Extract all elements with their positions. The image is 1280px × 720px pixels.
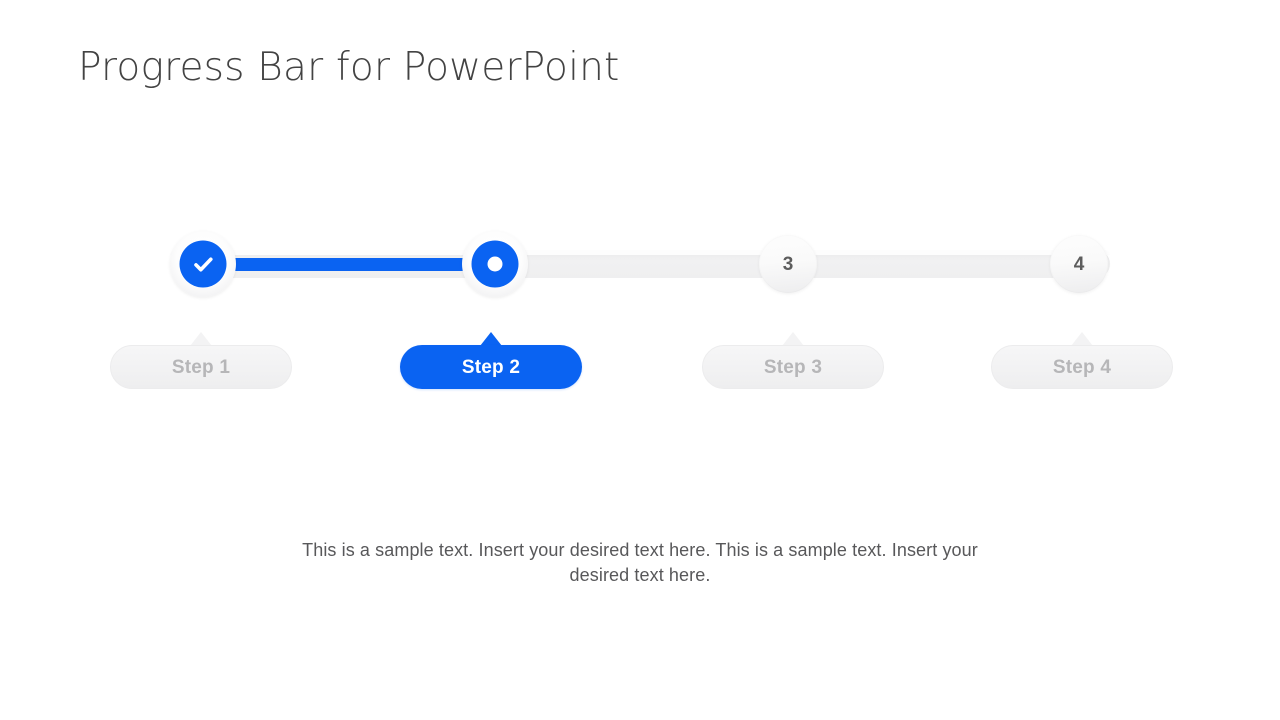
pointer-up-icon bbox=[480, 332, 502, 346]
body-paragraph: This is a sample text. Insert your desir… bbox=[300, 538, 980, 588]
progress-track-highlight bbox=[170, 250, 1110, 255]
step-label-3-text: Step 3 bbox=[764, 358, 822, 377]
step-marker-3-number: 3 bbox=[783, 255, 794, 274]
step-marker-4[interactable]: 4 bbox=[1050, 235, 1108, 293]
current-dot-icon bbox=[488, 257, 503, 272]
step-label-2-text: Step 2 bbox=[462, 358, 520, 377]
progress-fill bbox=[196, 258, 501, 271]
check-icon bbox=[190, 251, 216, 277]
step-label-4-text: Step 4 bbox=[1053, 358, 1111, 377]
pointer-up-icon bbox=[1071, 332, 1093, 346]
step-marker-4-number: 4 bbox=[1074, 255, 1085, 274]
step-label-4-pill[interactable]: Step 4 bbox=[991, 345, 1173, 389]
step-marker-2[interactable] bbox=[462, 231, 528, 297]
step-marker-1-core bbox=[180, 241, 227, 288]
pointer-up-icon bbox=[190, 332, 212, 346]
step-label-2-pill[interactable]: Step 2 bbox=[400, 345, 582, 389]
progress-bar-diagram: 3 4 Step 1 Step 2 Step 3 Step 4 bbox=[0, 0, 1280, 720]
step-label-1-text: Step 1 bbox=[172, 358, 230, 377]
step-label-3-pill[interactable]: Step 3 bbox=[702, 345, 884, 389]
step-marker-3[interactable]: 3 bbox=[759, 235, 817, 293]
step-marker-2-core bbox=[472, 241, 519, 288]
pointer-up-icon bbox=[782, 332, 804, 346]
step-marker-1[interactable] bbox=[170, 231, 236, 297]
step-label-1-pill[interactable]: Step 1 bbox=[110, 345, 292, 389]
